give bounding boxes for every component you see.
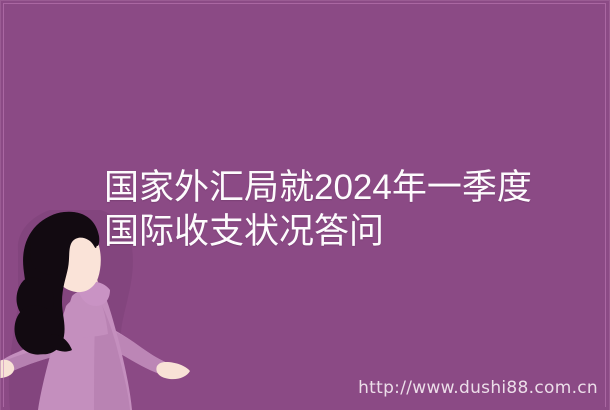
watermark-url: http://www.dushi88.com.cn [358,378,598,398]
headline-title: 国家外汇局就2024年一季度国际收支状况答问 [104,166,556,254]
right-hand [156,362,190,379]
article-cover-banner: 国家外汇局就2024年一季度国际收支状况答问 http://www.dushi8… [0,0,610,410]
